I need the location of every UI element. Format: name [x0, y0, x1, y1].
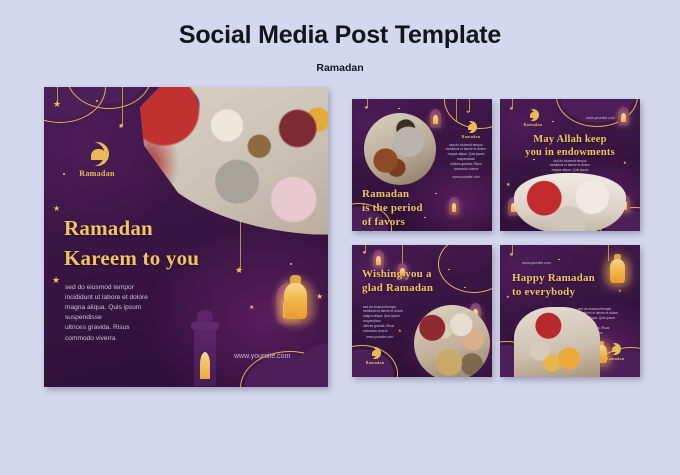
card-4-logo: Ramadan — [600, 343, 630, 361]
card-3-logo: Ramadan — [360, 347, 390, 365]
sparkle-dot — [290, 263, 292, 265]
crescent-mosque-icon — [465, 121, 477, 133]
star-icon: ★ — [623, 161, 627, 165]
star-icon: ★ — [53, 205, 60, 213]
hanging-thread — [456, 99, 457, 121]
card-3-title: Wishing you a glad Ramadan — [362, 267, 433, 295]
star-icon: ★ — [509, 107, 513, 112]
hero-title-line2: Kareem to you — [64, 245, 199, 272]
sparkle-dot — [424, 217, 426, 219]
sparkle-dot — [552, 121, 554, 123]
sparkle-dot — [464, 287, 466, 289]
star-icon: ★ — [362, 251, 366, 256]
card-1-logo-label: Ramadan — [456, 134, 486, 139]
card-3-logo-label: Ramadan — [360, 360, 390, 365]
star-icon: ★ — [506, 183, 510, 188]
star-icon: ★ — [53, 101, 61, 110]
card-2-title: May Allah keep you in endowments — [500, 133, 640, 160]
brand-logo: Ramadan — [66, 142, 128, 178]
card-1-body-text: sed do eiusmod tempor incididunt ut labo… — [444, 143, 488, 173]
post-card-4[interactable]: ★ ★ ★ www.yoursite.com Happy Ramadan to … — [500, 245, 640, 377]
glowing-lantern-icon — [610, 259, 625, 283]
sparkle-dot — [558, 259, 560, 261]
glowing-lantern-icon — [284, 283, 307, 319]
star-icon: ★ — [509, 253, 513, 258]
card-4-photo — [514, 307, 600, 377]
card-1-title: Ramadan is the period of favors — [362, 187, 423, 229]
crescent-mosque-icon — [609, 343, 621, 355]
star-icon: ★ — [249, 305, 254, 311]
card-4-logo-label: Ramadan — [600, 356, 630, 361]
lantern-icon — [449, 197, 459, 215]
crescent-mosque-icon — [369, 347, 381, 359]
star-icon: ★ — [118, 123, 124, 130]
star-icon: ★ — [364, 106, 368, 111]
post-card-1[interactable]: ★ ★ Ramadan sed do eiusmod tempor incidi… — [352, 99, 492, 231]
card-1-photo — [364, 113, 436, 185]
hero-body-text: sed do eiusmod tempor incididunt ut labo… — [65, 283, 225, 344]
star-icon: ★ — [506, 295, 510, 299]
star-icon: ★ — [52, 277, 60, 286]
card-1-logo: Ramadan — [456, 121, 486, 139]
page-header: Social Media Post Template Ramadan — [0, 0, 680, 74]
crescent-mosque-icon — [527, 109, 539, 121]
card-2-logo: Ramadan — [518, 109, 548, 127]
sparkle-dot — [448, 269, 450, 271]
card-2-logo-label: Ramadan — [518, 122, 548, 127]
template-board: ★ ★ ★ ★ ★ ★ ★ — [0, 87, 680, 417]
sparkle-dot — [96, 100, 98, 102]
card-3-body-text: sed do eiusmod tempor incididunt ut labo… — [363, 305, 417, 335]
cloud-shape — [296, 343, 328, 387]
card-1-website: www.yoursite.com — [444, 175, 488, 179]
page-subtitle: Ramadan — [0, 62, 680, 74]
lantern-icon — [618, 107, 629, 126]
hanging-thread — [122, 87, 123, 125]
crescent-mosque-icon — [85, 142, 109, 166]
card-2-photo — [514, 173, 626, 231]
hero-post-panel[interactable]: ★ ★ ★ ★ ★ ★ ★ — [44, 87, 328, 387]
sparkle-dot — [63, 173, 65, 175]
sparkle-dot — [435, 193, 437, 195]
card-3-website: www.yoursite.com — [366, 335, 393, 339]
star-icon: ★ — [235, 267, 243, 276]
card-4-website: www.yoursite.com — [522, 261, 551, 265]
card-2-website: www.yoursite.com — [586, 116, 615, 120]
post-card-3[interactable]: ★ ★ Wishing you a glad Ramadan sed do ei… — [352, 245, 492, 377]
hero-website: www.yoursite.com — [234, 353, 290, 360]
star-icon: ★ — [466, 110, 470, 114]
sparkle-dot — [398, 108, 400, 110]
page-title: Social Media Post Template — [0, 22, 680, 50]
card-4-title: Happy Ramadan to everybody — [512, 271, 595, 299]
post-card-2[interactable]: ★ ★ ★ Ramadan www.yoursite.com May Allah… — [500, 99, 640, 231]
card-3-photo — [414, 305, 490, 377]
brand-logo-label: Ramadan — [66, 169, 128, 178]
gold-arc — [438, 245, 492, 293]
hero-title-line1: Ramadan — [64, 215, 153, 242]
